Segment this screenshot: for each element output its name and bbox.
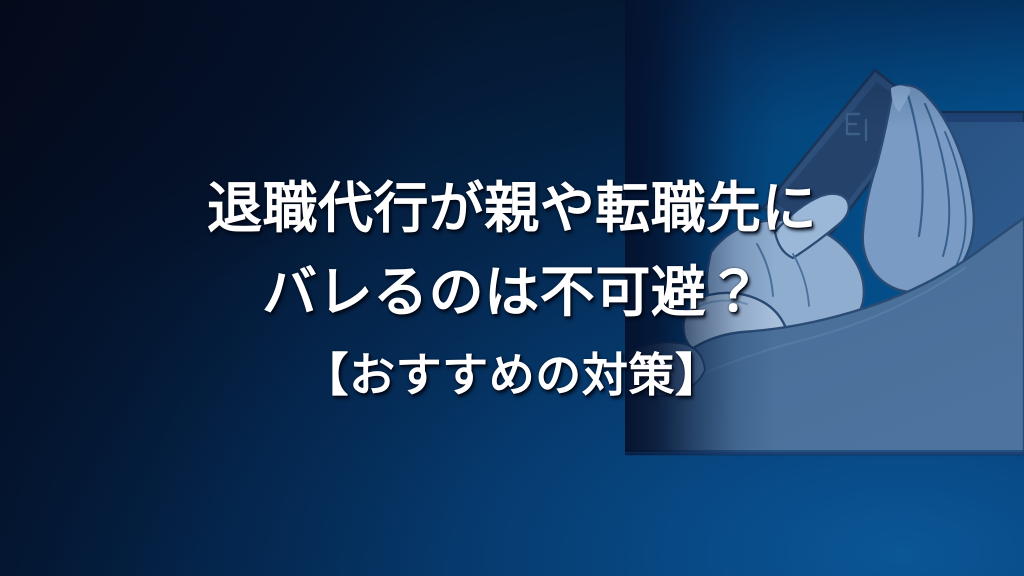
thumbnail-canvas: 退職代行が親や転職先に バレるのは不可避？ 【おすすめの対策】 — [0, 0, 1024, 576]
title-line-1: 退職代行が親や転職先に — [0, 176, 1024, 242]
title-line-3: 【おすすめの対策】 — [0, 348, 1024, 404]
title-line-2: バレるのは不可避？ — [0, 260, 1024, 326]
title-block: 退職代行が親や転職先に バレるのは不可避？ 【おすすめの対策】 — [0, 176, 1024, 404]
